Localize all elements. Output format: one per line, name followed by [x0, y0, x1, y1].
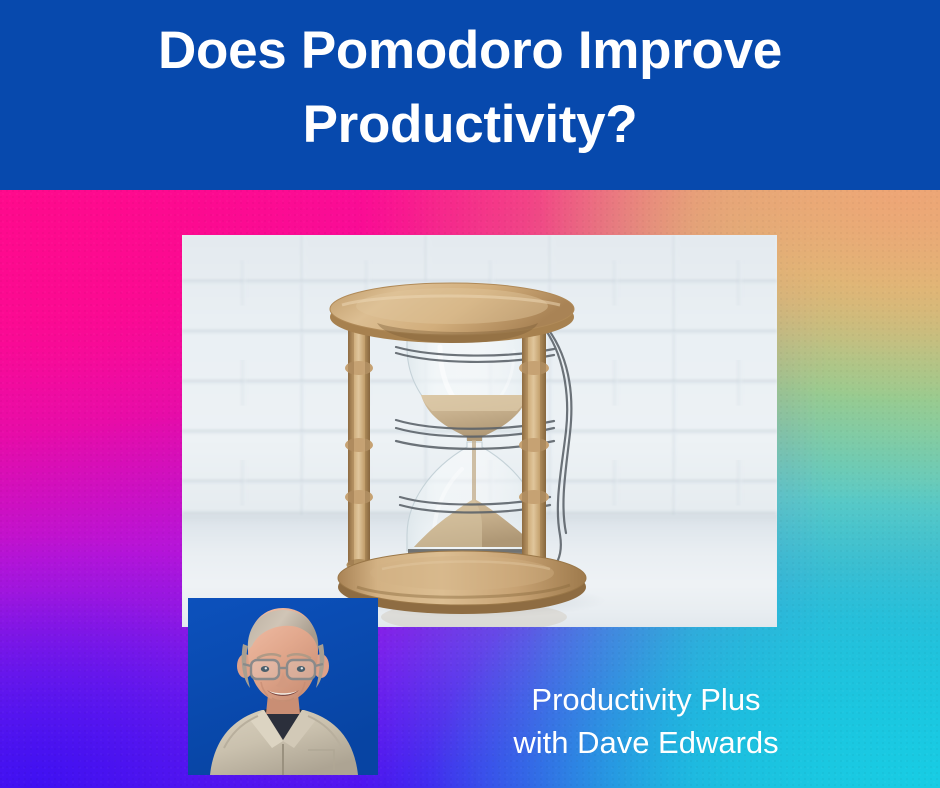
avatar [188, 598, 378, 775]
caption: Productivity Plus with Dave Edwards [416, 678, 876, 764]
caption-line-1: Productivity Plus [416, 678, 876, 721]
page-title: Does Pomodoro Improve Productivity? [0, 14, 940, 162]
header-band: Does Pomodoro Improve Productivity? [0, 0, 940, 190]
hourglass-illustration [182, 235, 777, 627]
host-portrait [188, 598, 378, 775]
title-line-2: Productivity? [0, 88, 940, 162]
title-line-1: Does Pomodoro Improve [0, 14, 940, 88]
podcast-cover-slide: Does Pomodoro Improve Productivity? [0, 0, 940, 788]
caption-line-2: with Dave Edwards [416, 721, 876, 764]
hourglass-photo [182, 235, 777, 627]
